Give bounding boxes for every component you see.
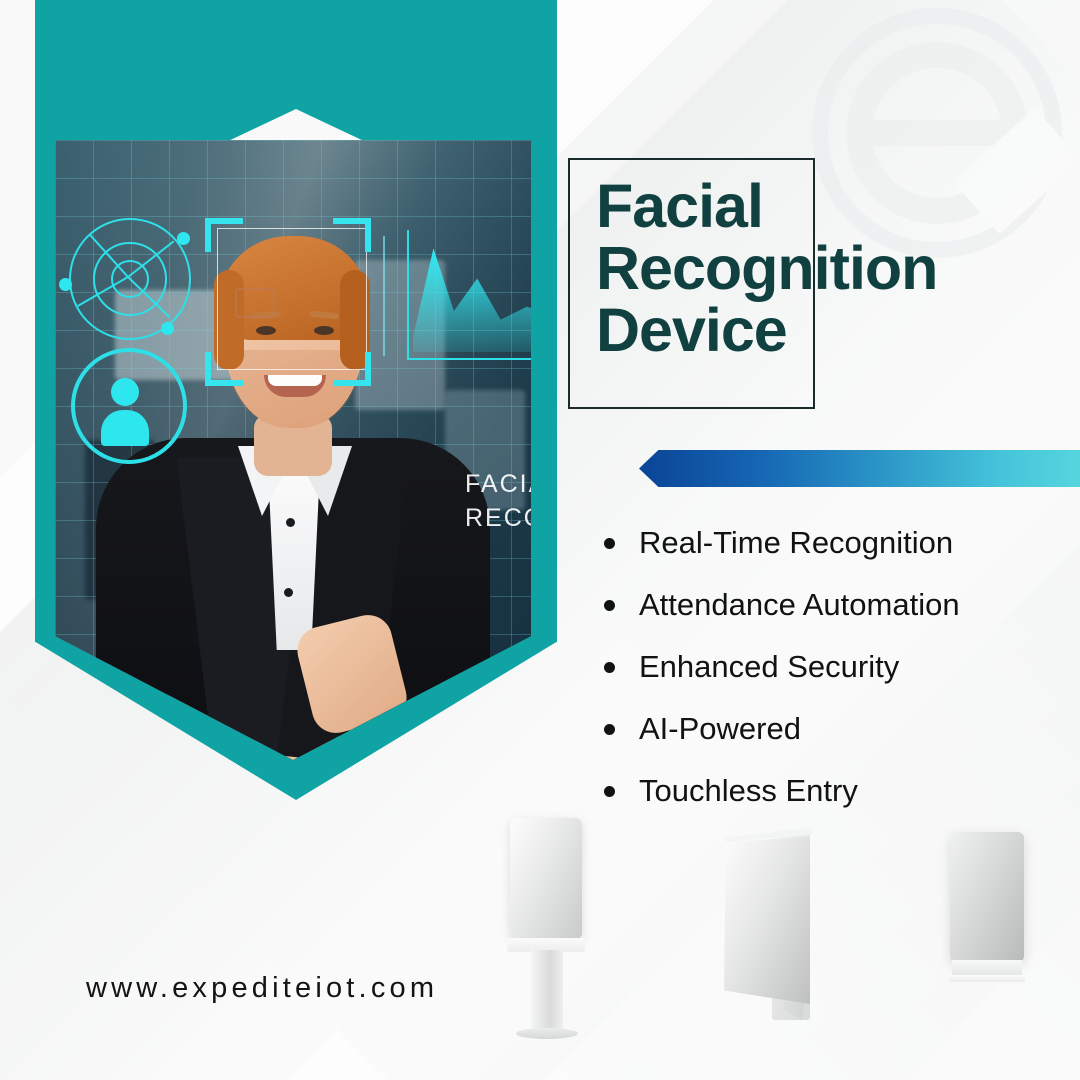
user-person-icon	[71, 348, 187, 464]
list-item: Attendance Automation	[604, 574, 1074, 636]
title-line-3: Device	[596, 299, 1066, 361]
page-title: Facial Recognition Device	[596, 175, 1066, 362]
device-desktop-tablet-terminal	[950, 832, 1032, 1012]
bullet-dot-icon	[604, 786, 615, 797]
feature-label: AI-Powered	[639, 711, 801, 747]
list-item: Real-Time Recognition	[604, 512, 1074, 574]
feature-label: Enhanced Security	[639, 649, 899, 685]
face-bracket-icon	[205, 352, 243, 386]
feature-label: Attendance Automation	[639, 587, 960, 623]
bullet-dot-icon	[604, 724, 615, 735]
hero-photo: FACIAL RECOG	[55, 140, 531, 760]
hud-overlay: FACIAL RECOG	[55, 140, 531, 760]
website-url[interactable]: www.expediteiot.com	[86, 972, 438, 1005]
bullet-dot-icon	[604, 600, 615, 611]
bullet-dot-icon	[604, 662, 615, 673]
bullet-dot-icon	[604, 538, 615, 549]
feature-list: Real-Time Recognition Attendance Automat…	[604, 512, 1074, 822]
feature-label: Touchless Entry	[639, 773, 858, 809]
title-line-1: Facial	[596, 175, 1066, 237]
title-line-2: Recognition	[596, 237, 1066, 299]
feature-label: Real-Time Recognition	[639, 525, 953, 561]
face-bracket-icon	[333, 352, 371, 386]
list-item: AI-Powered	[604, 698, 1074, 760]
hud-caption-line2: RECOG	[465, 502, 531, 536]
face-bracket-icon	[333, 218, 371, 252]
gradient-accent-bar	[639, 450, 1080, 487]
poster-canvas: FACIAL RECOG Facial Recognition Device R…	[0, 0, 1080, 1080]
device-floor-standing-kiosk	[510, 818, 590, 1056]
device-wall-mounted-terminal	[720, 826, 840, 1026]
hud-caption-line1: FACIAL	[465, 468, 531, 502]
face-bracket-icon	[205, 218, 243, 252]
list-item: Touchless Entry	[604, 760, 1074, 822]
hud-caption: FACIAL RECOG	[465, 468, 531, 536]
list-item: Enhanced Security	[604, 636, 1074, 698]
